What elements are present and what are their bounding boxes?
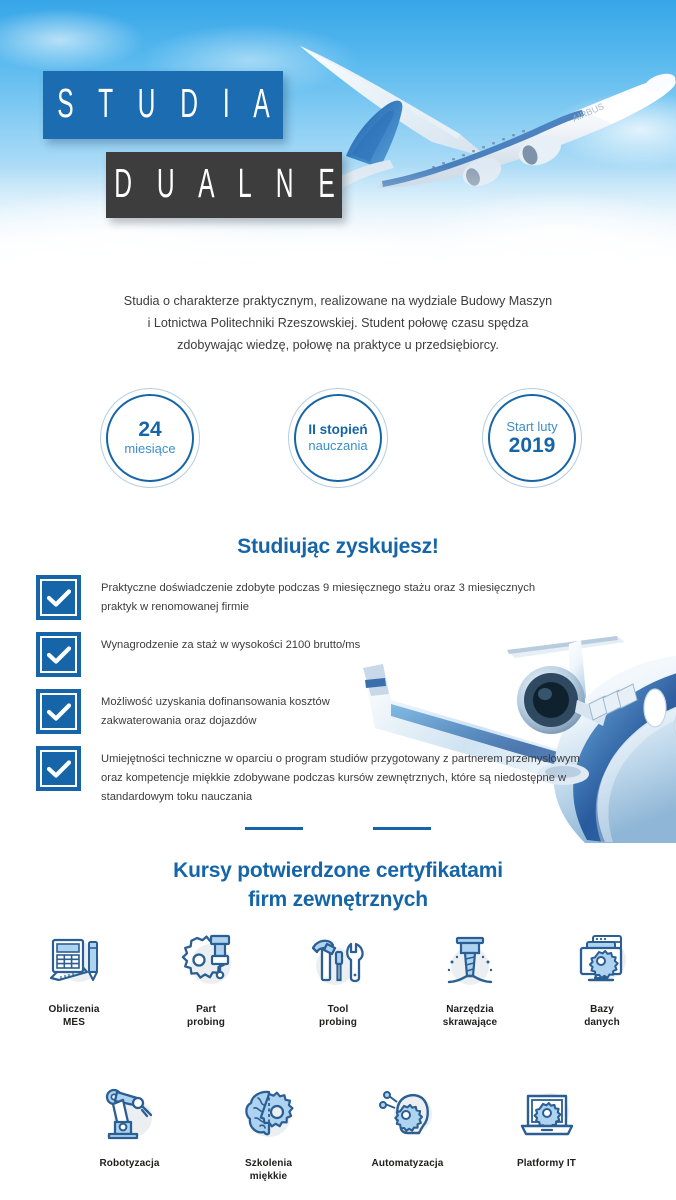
badge-duration: 24 miesiące (100, 388, 200, 488)
courses-heading-line-1: Kursy potwierdzone certyfikatami (0, 856, 676, 885)
hero-banner: AIRBUS S T U D I A D U A L N E (0, 0, 676, 285)
course-label: Bazydanych (584, 1003, 620, 1029)
checkbox-icon (36, 575, 81, 620)
benefit-item: Praktyczne doświadczenie zdobyte podczas… (36, 575, 596, 620)
checkbox-icon (36, 632, 81, 677)
benefit-text: Wynagrodzenie za staż w wysokości 2100 b… (101, 632, 360, 655)
checkbox-icon (36, 746, 81, 791)
course-item-narzedzia-skrawajace[interactable]: Narzędziaskrawające (424, 928, 516, 1029)
course-item-szkolenia-miekkie[interactable]: Szkoleniamiękkie (223, 1082, 315, 1183)
badge-degree-label: nauczania (308, 438, 367, 454)
drill-bit-icon (437, 928, 503, 994)
title-box-dualne: D U A L N E (106, 152, 342, 218)
check-icon (47, 760, 71, 778)
laptop-gear-icon (514, 1082, 580, 1148)
course-label: Platformy IT (517, 1157, 576, 1170)
intro-line-2: i Lotnictwa Politechniki Rzeszowskiej. S… (72, 312, 604, 334)
course-item-bazy-danych[interactable]: Bazydanych (556, 928, 648, 1029)
benefit-text: Praktyczne doświadczenie zdobyte podczas… (101, 575, 571, 617)
calculator-ruler-pencil-icon (41, 928, 107, 994)
course-item-tool-probing[interactable]: Toolprobing (292, 928, 384, 1029)
course-item-platformy-it[interactable]: Platformy IT (501, 1082, 593, 1183)
badge-start-label: Start luty (506, 419, 557, 435)
title-studia: S T U D I A (48, 82, 278, 128)
benefit-item: Wynagrodzenie za staż w wysokości 2100 b… (36, 632, 596, 677)
courses-heading: Kursy potwierdzone certyfikatami firm ze… (0, 856, 676, 914)
brain-gear-icon (236, 1082, 302, 1148)
head-gear-circuit-icon (375, 1082, 441, 1148)
course-icon-row-1: ObliczeniaMES Partprobing (0, 928, 676, 1029)
connector-line-left (245, 827, 303, 830)
hammer-screwdriver-wrench-icon (305, 928, 371, 994)
courses-heading-line-2: firm zewnętrznych (0, 885, 676, 914)
course-item-automatyzacja[interactable]: Automatyzacja (362, 1082, 454, 1183)
benefit-text: Umiejętności techniczne w oparciu o prog… (101, 746, 596, 807)
badge-row: 24 miesiące II stopień nauczania Start l… (0, 386, 676, 498)
title-dualne: D U A L N E (105, 162, 344, 208)
course-label: Automatyzacja (372, 1157, 444, 1170)
course-icon-row-2: Robotyzacja Szkoleniam (0, 1082, 676, 1183)
monitor-gear-icon (569, 928, 635, 994)
benefit-item: Możliwość uzyskania dofinansowania koszt… (36, 689, 596, 734)
benefit-text: Możliwość uzyskania dofinansowania koszt… (101, 689, 401, 731)
benefits-heading: Studiując zyskujesz! (0, 535, 676, 559)
course-label: ObliczeniaMES (48, 1003, 99, 1029)
infographic-page: AIRBUS S T U D I A D U A L N E Studia o … (0, 0, 676, 1200)
check-icon (47, 589, 71, 607)
course-item-obliczenia-mes[interactable]: ObliczeniaMES (28, 928, 120, 1029)
course-item-part-probing[interactable]: Partprobing (160, 928, 252, 1029)
badge-degree-value: II stopień (308, 422, 367, 438)
check-icon (47, 703, 71, 721)
course-label: Szkoleniamiękkie (245, 1157, 292, 1183)
benefit-item: Umiejętności techniczne w oparciu o prog… (36, 746, 596, 807)
intro-line-1: Studia o charakterze praktycznym, realiz… (72, 290, 604, 312)
course-label: Narzędziaskrawające (443, 1003, 497, 1029)
intro-paragraph: Studia o charakterze praktycznym, realiz… (0, 290, 676, 356)
check-icon (47, 646, 71, 664)
checkbox-icon (36, 689, 81, 734)
badge-degree: II stopień nauczania (288, 388, 388, 488)
course-label: Partprobing (187, 1003, 225, 1029)
course-item-robotyzacja[interactable]: Robotyzacja (84, 1082, 176, 1183)
gear-probe-icon (173, 928, 239, 994)
badge-duration-value: 24 (138, 419, 161, 441)
badge-duration-unit: miesiące (124, 441, 175, 457)
course-label: Robotyzacja (99, 1157, 159, 1170)
benefits-list: Praktyczne doświadczenie zdobyte podczas… (36, 575, 596, 819)
badge-start-year: 2019 (509, 435, 556, 457)
course-label: Toolprobing (319, 1003, 357, 1029)
robot-arm-icon (97, 1082, 163, 1148)
title-box-studia: S T U D I A (43, 71, 283, 139)
intro-line-3: zdobywając wiedzę, połowę na praktyce u … (72, 334, 604, 356)
badge-start: Start luty 2019 (482, 388, 582, 488)
